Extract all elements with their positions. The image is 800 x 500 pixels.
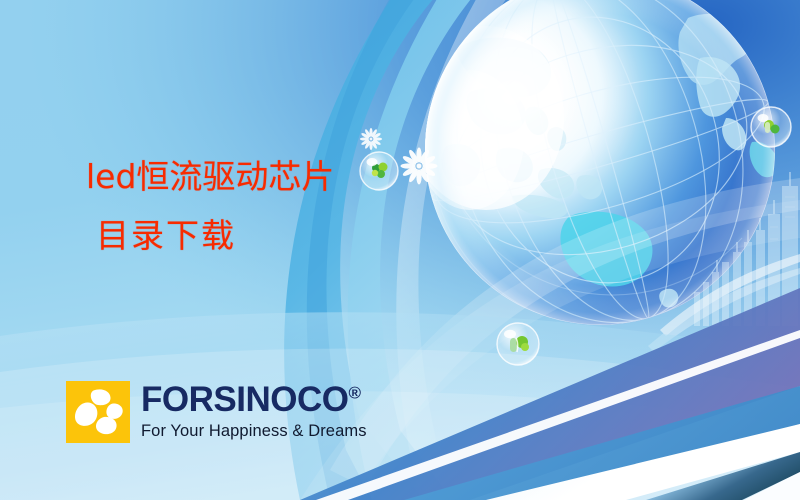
- registered-trademark-symbol: ®: [348, 383, 361, 402]
- logo-text-block: FORSINOCO® For Your Happiness & Dreams: [141, 381, 367, 440]
- logo-tagline: For Your Happiness & Dreams: [141, 423, 367, 440]
- bubble-leaf: [751, 107, 791, 147]
- logo-wordmark: FORSINOCO®: [141, 382, 367, 417]
- logo-wordmark-text: FORSINOCO: [141, 380, 348, 419]
- forsinoco-logo[interactable]: FORSINOCO® For Your Happiness & Dreams: [66, 381, 367, 443]
- bubble-pinwheel: [360, 152, 398, 190]
- headline-line-1: led恒流驱动芯片: [86, 160, 334, 193]
- bubble-sprout: [497, 323, 539, 365]
- promo-banner: led恒流驱动芯片 目录下载 FORSINOCO® For Your Happi…: [0, 0, 800, 500]
- headline-text: led恒流驱动芯片 目录下载: [86, 160, 334, 252]
- headline-line-2: 目录下载: [96, 219, 334, 252]
- forsinoco-pinwheel-mark: [66, 381, 130, 443]
